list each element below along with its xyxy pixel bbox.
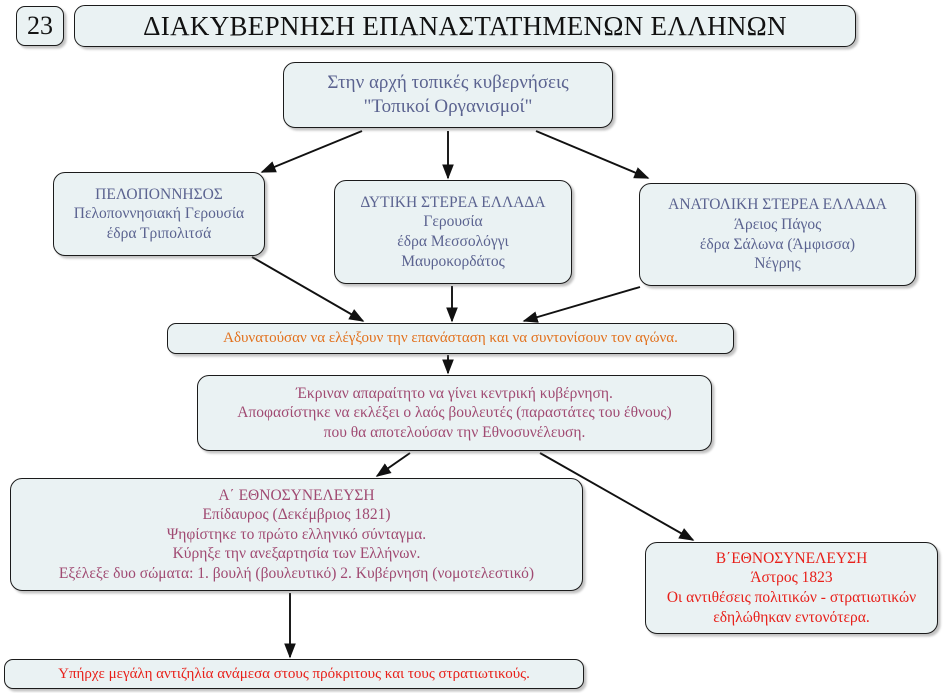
- node-line: που θα αποτελούσαν την Εθνοσυνέλευση.: [324, 423, 586, 443]
- node-line: Εξέλεξε δυο σώματα: 1. βουλή (βουλευτικό…: [59, 564, 534, 584]
- node-line: Μαυροκορδάτος: [401, 252, 505, 272]
- node-central-government-decision: Έκριναν απαραίτητο να γίνει κεντρική κυβ…: [197, 375, 712, 451]
- node-line: Επίδαυρος (Δεκέμβριος 1821): [202, 505, 390, 525]
- node-unable-to-control: Αδυνατούσαν να ελέγξουν την επανάσταση κ…: [167, 323, 734, 354]
- node-western-mainland-greece: ΔΥΤΙΚΗ ΣΤΕΡΕΑ ΕΛΛΑΔΑ Γερουσία έδρα Μεσσο…: [334, 180, 572, 284]
- arrow-east-to-unable: [524, 287, 640, 321]
- node-line: έδρα Τριπολιτσά: [107, 224, 211, 244]
- node-heading: ΑΝΑΤΟΛΙΚΗ ΣΤΕΡΕΑ ΕΛΛΑΔΑ: [668, 195, 887, 215]
- node-line: Υπήρχε μεγάλη αντιζηλία ανάμεσα στους πρ…: [58, 665, 530, 684]
- node-line: έδρα Μεσσολόγγι: [397, 232, 508, 252]
- arrow-local-to-peloponnese: [262, 131, 362, 172]
- node-peloponnese: ΠΕΛΟΠΟΝΝΗΣΟΣ Πελοποννησιακή Γερουσία έδρ…: [53, 172, 265, 256]
- node-line: Έκριναν απαραίτητο να γίνει κεντρική κυβ…: [296, 384, 613, 404]
- node-heading: Α΄ ΕΘΝΟΣΥΝΕΛΕΥΣΗ: [218, 486, 374, 506]
- node-line: "Τοπικοί Οργανισμοί": [364, 95, 533, 119]
- node-assembly-b: Β΄ΕΘΝΟΣΥΝΕΛΕΥΣΗ Άστρος 1823 Οι αντιθέσει…: [645, 542, 938, 634]
- node-assembly-a: Α΄ ΕΘΝΟΣΥΝΕΛΕΥΣΗ Επίδαυρος (Δεκέμβριος 1…: [10, 478, 583, 591]
- page-title: ΔΙΑΚΥΒΕΡΝΗΣΗ ΕΠΑΝΑΣΤΑΤΗΜΕΝΩΝ ΕΛΛΗΝΩΝ: [74, 5, 856, 47]
- node-line: Άρειος Πάγος: [734, 215, 821, 235]
- page-number-text: 23: [27, 10, 53, 43]
- node-eastern-mainland-greece: ΑΝΑΤΟΛΙΚΗ ΣΤΕΡΕΑ ΕΛΛΑΔΑ Άρειος Πάγος έδρ…: [639, 183, 916, 286]
- arrow-central-to-assembly-a: [377, 453, 410, 476]
- node-heading: ΠΕΛΟΠΟΝΝΗΣΟΣ: [95, 185, 223, 205]
- page-title-text: ΔΙΑΚΥΒΕΡΝΗΣΗ ΕΠΑΝΑΣΤΑΤΗΜΕΝΩΝ ΕΛΛΗΝΩΝ: [143, 9, 787, 43]
- node-line: Οι αντιθέσεις πολιτικών - στρατιωτικών: [667, 588, 916, 608]
- node-line: Αδυνατούσαν να ελέγξουν την επανάσταση κ…: [223, 329, 678, 348]
- page-number-badge: 23: [16, 6, 64, 46]
- node-line: Γερουσία: [423, 212, 482, 232]
- node-heading: ΔΥΤΙΚΗ ΣΤΕΡΕΑ ΕΛΛΑΔΑ: [360, 193, 545, 213]
- node-rivalry: Υπήρχε μεγάλη αντιζηλία ανάμεσα στους πρ…: [4, 659, 584, 689]
- node-line: Νέγρης: [754, 254, 801, 274]
- arrow-local-to-east: [536, 131, 648, 178]
- node-line: Πελοποννησιακή Γερουσία: [74, 204, 244, 224]
- node-line: έδρα Σάλωνα (Άμφισσα): [700, 235, 855, 255]
- node-line: εδηλώθηκαν εντονότερα.: [713, 608, 870, 628]
- node-line: Κύρηξε την ανεξαρτησία των Ελλήνων.: [173, 544, 421, 564]
- node-line: Ψηφίστηκε το πρώτο ελληνικό σύνταγμα.: [167, 525, 426, 545]
- node-line: Άστρος 1823: [750, 568, 832, 588]
- node-line: Αποφασίστηκε να εκλέξει ο λαός βουλευτές…: [237, 403, 671, 423]
- node-line: Στην αρχή τοπικές κυβερνήσεις: [327, 71, 568, 95]
- node-heading: Β΄ΕΘΝΟΣΥΝΕΛΕΥΣΗ: [716, 549, 868, 569]
- node-local-government: Στην αρχή τοπικές κυβερνήσεις "Τοπικοί Ο…: [283, 62, 613, 128]
